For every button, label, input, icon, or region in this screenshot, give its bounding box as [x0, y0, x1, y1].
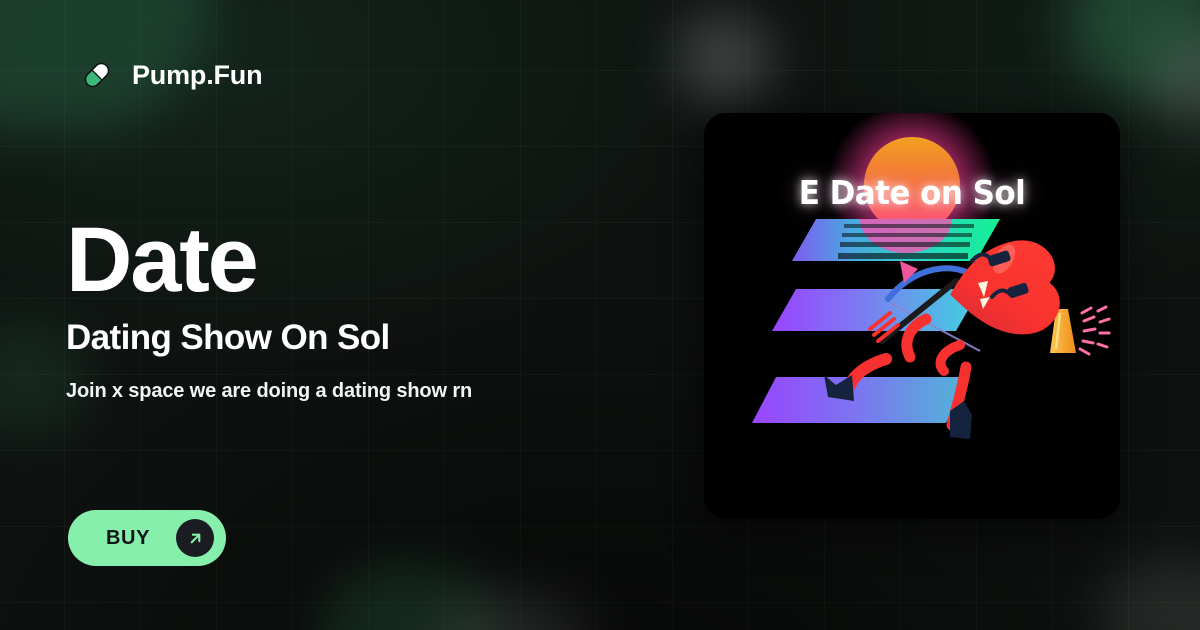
page-title: Date [66, 214, 686, 306]
promo-card: Pump.Fun Date Dating Show On Sol Join x … [0, 0, 1200, 630]
arrow-up-right-icon [176, 519, 214, 557]
solana-bar-bottom [752, 377, 970, 423]
brand-logo[interactable]: Pump.Fun [78, 56, 262, 94]
page-subtitle: Dating Show On Sol [66, 318, 686, 358]
copy-block: Date Dating Show On Sol Join x space we … [66, 214, 686, 404]
buy-button-label: BUY [106, 527, 150, 550]
pill-capsule-icon [78, 56, 116, 94]
page-description: Join x space we are doing a dating show … [66, 378, 686, 404]
buy-button[interactable]: BUY [68, 510, 226, 566]
token-artwork-image [704, 113, 1120, 519]
token-artwork-card[interactable]: E Date on Sol [704, 113, 1120, 519]
brand-name: Pump.Fun [132, 62, 262, 89]
